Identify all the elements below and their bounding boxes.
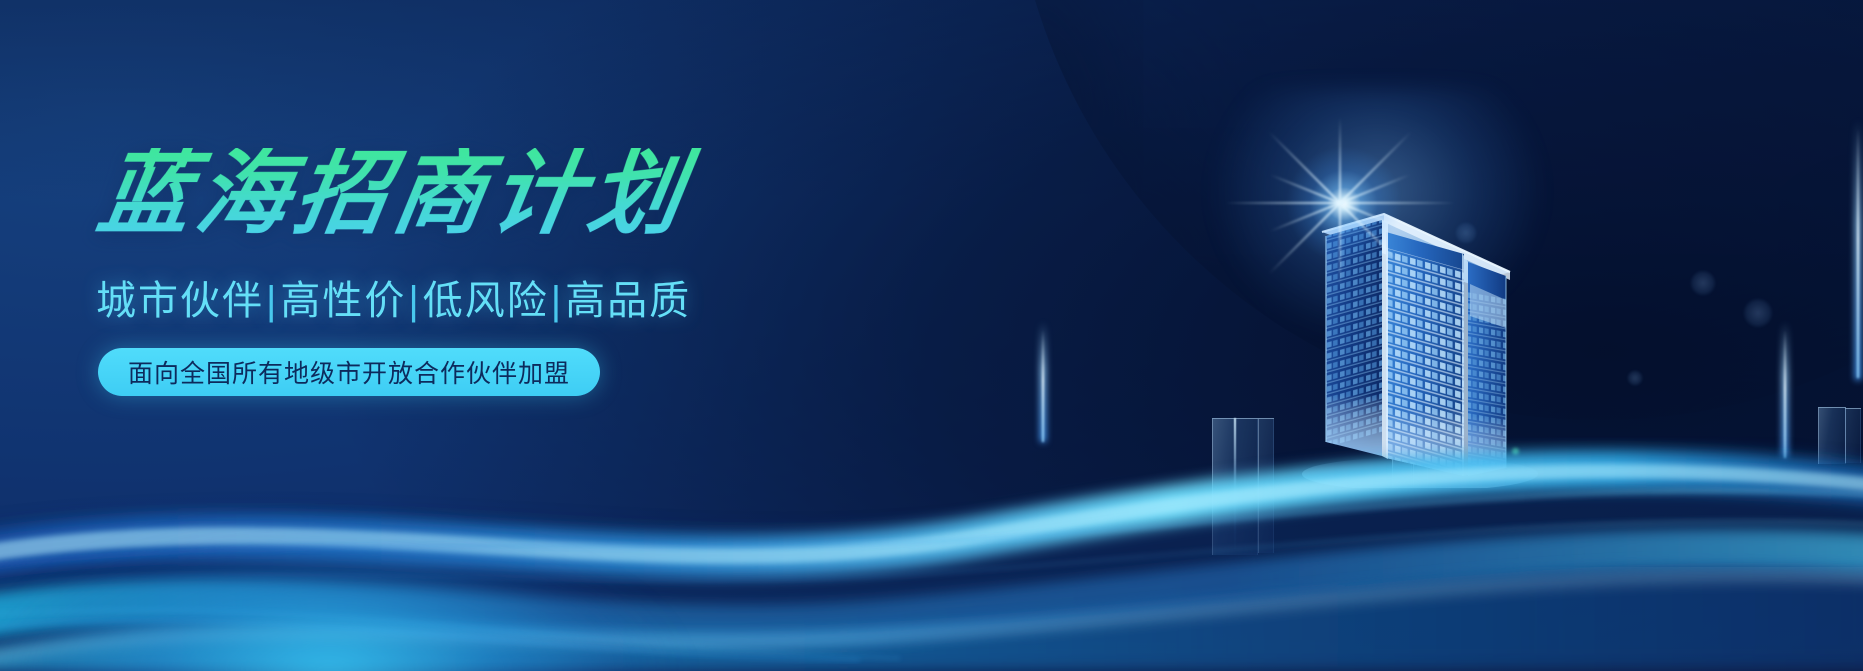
promo-banner: 蓝海招商计划 城市伙伴|高性价|低风险|高品质 面向全国所有地级市开放合作伙伴加… [0, 0, 1863, 671]
glass-pillar-7 [1818, 407, 1846, 463]
light-beam-core [1857, 128, 1859, 378]
bottom-left-glow [0, 481, 780, 671]
banner-content: 蓝海招商计划 城市伙伴|高性价|低风险|高品质 面向全国所有地级市开放合作伙伴加… [92, 148, 812, 396]
cta-pill[interactable]: 面向全国所有地级市开放合作伙伴加盟 [98, 348, 600, 396]
pillar-face [1818, 407, 1846, 464]
light-beam-core [1042, 330, 1044, 442]
subtitle-item-3: 低风险 [423, 279, 549, 323]
banner-subtitle: 城市伙伴|高性价|低风险|高品质 [96, 268, 812, 326]
page-title: 蓝海招商计划 [92, 148, 827, 242]
pillar-face [1845, 408, 1861, 463]
subtitle-item-2: 高性价 [280, 279, 406, 323]
light-beam-core [1784, 330, 1786, 458]
subtitle-item-1: 城市伙伴 [96, 279, 264, 323]
glowing-skyscraper [1274, 158, 1574, 488]
subtitle-item-4: 高品质 [565, 279, 691, 323]
subtitle-separator: | [264, 279, 280, 323]
bokeh-dot [1743, 298, 1773, 328]
glass-pillar-8 [1845, 408, 1861, 462]
subtitle-separator: | [549, 279, 565, 323]
bokeh-dot [1690, 270, 1716, 296]
subtitle-separator: | [406, 279, 422, 323]
